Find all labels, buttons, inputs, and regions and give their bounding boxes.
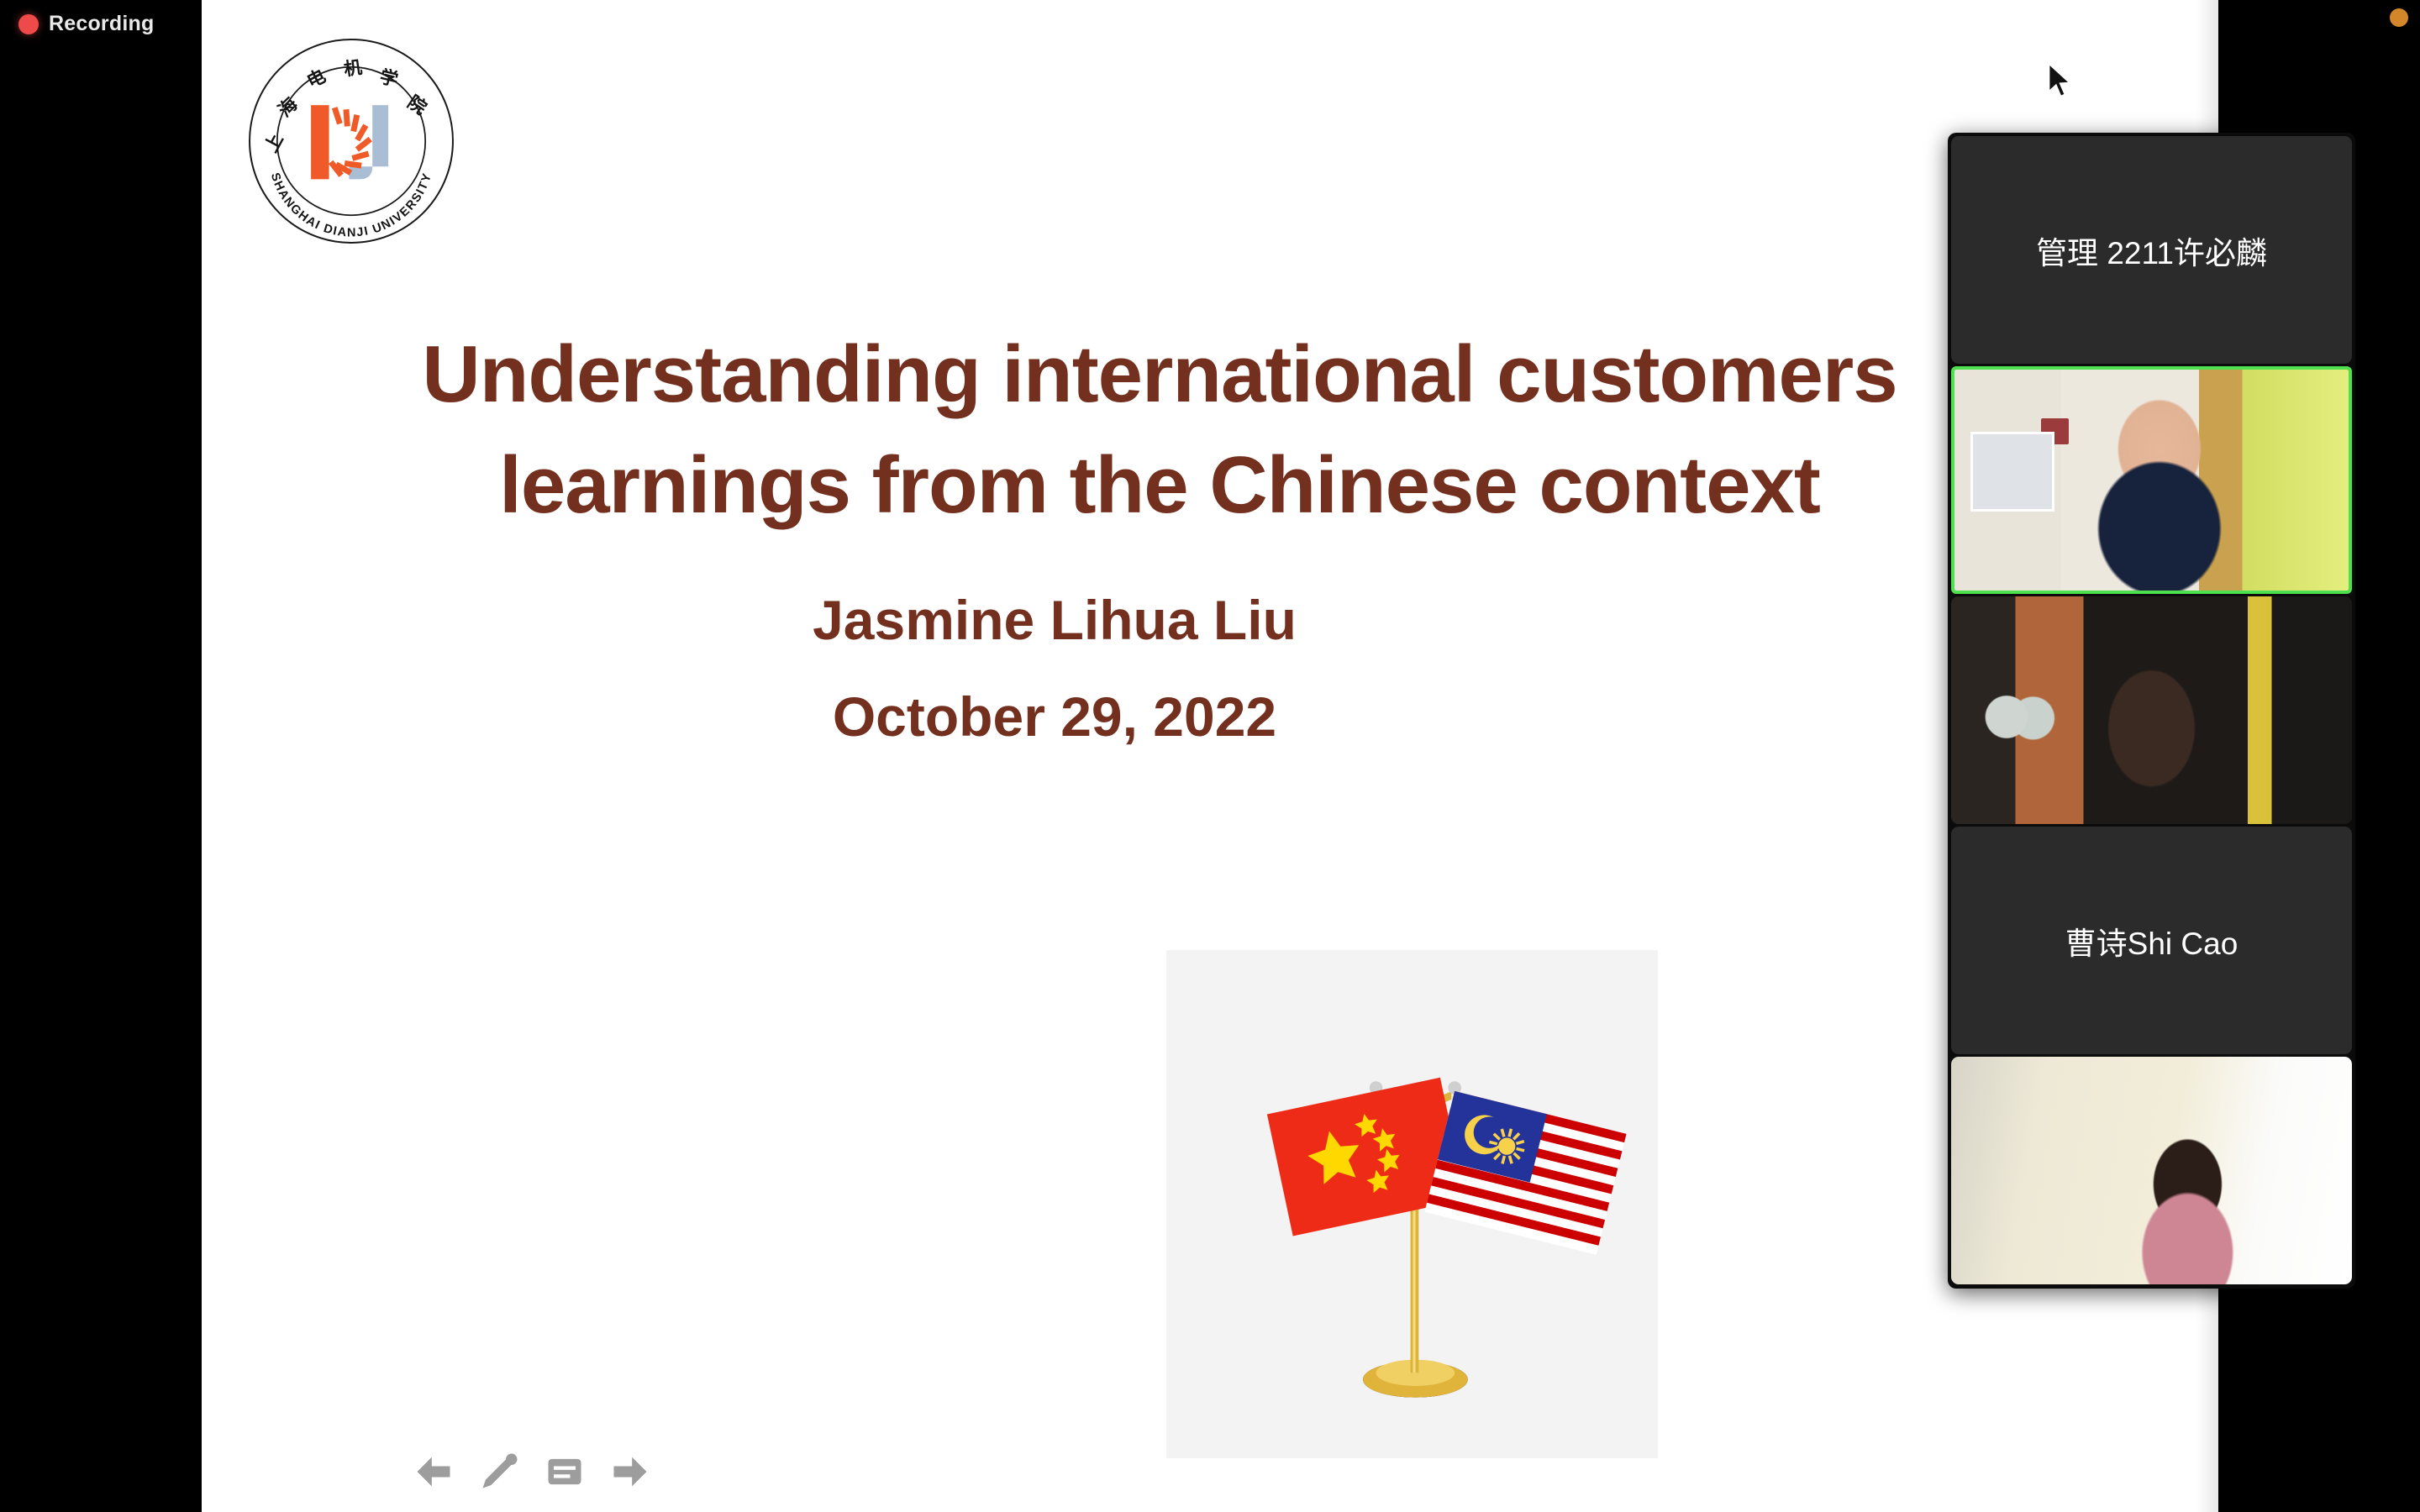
- next-slide-arrow-icon[interactable]: [608, 1450, 652, 1494]
- svg-text:院: 院: [403, 92, 431, 120]
- participant-video: [1951, 596, 2352, 824]
- participant-name: 曹诗Shi Cao: [1951, 918, 2352, 963]
- participant-tile-active-speaker[interactable]: [1951, 366, 2352, 594]
- china-malaysia-flags-image: [1166, 950, 1658, 1458]
- mouse-cursor-icon: [2045, 62, 2074, 101]
- svg-text:上: 上: [261, 130, 288, 156]
- slide-title: Understanding international customers le…: [202, 319, 2117, 542]
- recording-label: Recording: [49, 12, 154, 36]
- svg-text:机: 机: [343, 57, 364, 81]
- participant-tile[interactable]: [1951, 596, 2352, 824]
- svg-text:SHANGHAI DIANJI UNIVERSITY: SHANGHAI DIANJI UNIVERSITY: [268, 171, 434, 240]
- presentation-controls[interactable]: [412, 1450, 652, 1494]
- pen-annotate-icon[interactable]: [477, 1450, 521, 1494]
- presentation-slide: 上 海 电 机 学 院 SHANGHAI DIANJI UNIVERSITY U…: [202, 0, 2218, 1512]
- participants-panel[interactable]: 管理 2211许必麟 曹诗Shi Cao: [1948, 133, 2355, 1289]
- slide-author: Jasmine Lihua Liu: [202, 588, 1907, 652]
- shanghai-dianji-university-logo-icon: 上 海 电 机 学 院 SHANGHAI DIANJI UNIVERSITY: [245, 35, 457, 247]
- slide-date: October 29, 2022: [202, 685, 1907, 748]
- status-dot-icon: [2390, 8, 2408, 27]
- recording-indicator: Recording: [18, 12, 154, 36]
- svg-text:学: 学: [377, 66, 400, 91]
- participant-tile[interactable]: 管理 2211许必麟: [1951, 136, 2352, 364]
- participant-video: [1951, 1057, 2352, 1284]
- participant-tile[interactable]: 曹诗Shi Cao: [1951, 827, 2352, 1054]
- recording-dot-icon: [18, 14, 39, 34]
- svg-text:海: 海: [274, 93, 302, 122]
- svg-text:电: 电: [303, 66, 329, 92]
- participant-video: [1954, 370, 2349, 591]
- slide-title-line-2: learnings from the Chinese context: [202, 430, 2117, 541]
- notes-icon[interactable]: [543, 1450, 587, 1494]
- participant-tile[interactable]: [1951, 1057, 2352, 1284]
- slide-title-line-1: Understanding international customers: [422, 329, 1897, 419]
- screen-root: Recording: [0, 0, 2420, 1512]
- participant-name: 管理 2211许必麟: [1951, 228, 2352, 273]
- previous-slide-arrow-icon[interactable]: [412, 1450, 455, 1494]
